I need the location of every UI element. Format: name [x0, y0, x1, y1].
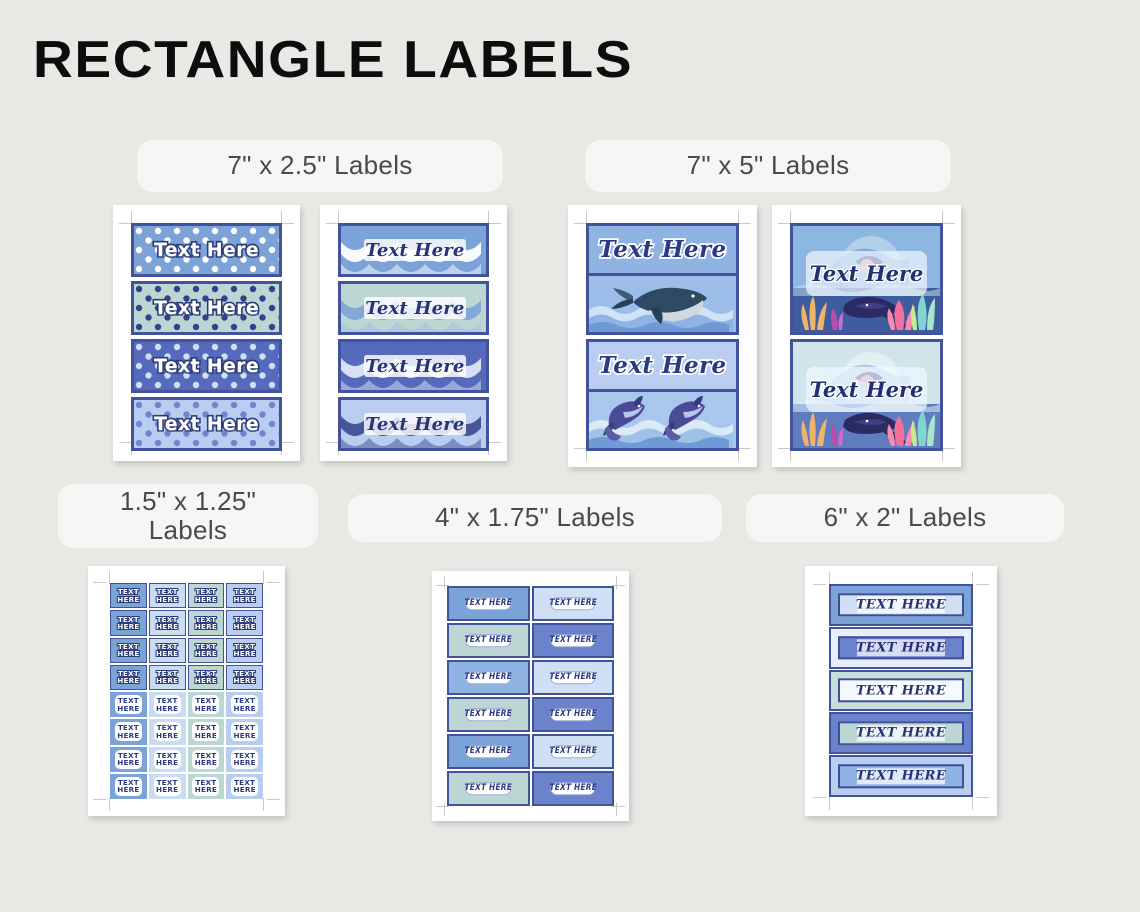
six-by-two-text: TEXT HERE — [856, 640, 946, 655]
label-text: Text Here — [134, 413, 279, 435]
mini-label-card[interactable]: TEXTHERE — [115, 750, 142, 769]
mini-label-text: TEXTHERE — [117, 779, 139, 794]
mini-label-card[interactable]: TEXTHERE — [192, 777, 219, 796]
crop-mark — [267, 582, 280, 583]
crop-mark — [444, 576, 445, 589]
crop-mark — [281, 223, 294, 224]
mini-label-text: TEXTHERE — [195, 697, 217, 712]
mini-label-text: TEXTHERE — [156, 752, 178, 767]
mini-label[interactable]: TEXTHERE — [226, 610, 263, 635]
mini-label[interactable]: TEXTHERE — [188, 638, 225, 663]
pill-label[interactable]: TEXT HERE — [447, 586, 530, 621]
mini-label-text: TEXTHERE — [117, 697, 139, 712]
mini-label[interactable]: TEXTHERE — [110, 692, 147, 717]
pill-label-field[interactable]: TEXT HERE — [550, 782, 596, 796]
six-by-two-label[interactable]: TEXT HERE — [829, 584, 973, 626]
pill-label-text: TEXT HERE — [464, 747, 512, 757]
pill-label-text: TEXT HERE — [464, 599, 512, 609]
pill-label-text: TEXT HERE — [549, 784, 597, 794]
pill-label[interactable]: TEXT HERE — [447, 734, 530, 769]
pill-label-text: TEXT HERE — [464, 710, 512, 720]
mini-label-text: TEXTHERE — [195, 670, 217, 685]
mini-label[interactable]: TEXTHERE — [110, 747, 147, 772]
label-text: Text Here — [134, 355, 279, 377]
mini-label[interactable]: TEXTHERE — [110, 719, 147, 744]
pill-label-field[interactable]: TEXT HERE — [550, 597, 596, 611]
mini-label-text: TEXTHERE — [234, 697, 256, 712]
crop-mark — [942, 223, 955, 224]
crop-mark — [829, 797, 830, 810]
mini-label[interactable]: TEXTHERE — [149, 583, 186, 608]
label-row[interactable]: Text Here — [131, 281, 282, 335]
badge-6x2: 6" x 2" Labels — [746, 494, 1064, 542]
mini-label[interactable]: TEXTHERE — [226, 774, 263, 799]
mini-label-card[interactable]: TEXTHERE — [115, 777, 142, 796]
crop-mark — [976, 584, 989, 585]
sheet-six-by-two[interactable]: TEXT HERETEXT HERETEXT HERETEXT HERETEXT… — [805, 566, 997, 816]
label-row[interactable]: Text Here — [790, 339, 943, 451]
label-text: Text Here — [134, 239, 279, 261]
pill-label[interactable]: TEXT HERE — [532, 586, 615, 621]
crop-mark — [972, 797, 973, 810]
mini-label-card[interactable]: TEXTHERE — [192, 750, 219, 769]
mini-label[interactable]: TEXTHERE — [188, 719, 225, 744]
mini-label-text: TEXTHERE — [234, 643, 256, 658]
mini-label[interactable]: TEXTHERE — [226, 583, 263, 608]
mini-label-text: TEXTHERE — [117, 724, 139, 739]
mini-label[interactable]: TEXTHERE — [226, 665, 263, 690]
label-text: Text Here — [365, 355, 464, 376]
badge-7x5: 7" x 5" Labels — [585, 140, 951, 192]
mini-label-card[interactable]: TEXTHERE — [231, 777, 258, 796]
crop-mark — [813, 797, 826, 798]
mini-label-text: TEXTHERE — [234, 588, 256, 603]
pill-label-grid: TEXT HERETEXT HERETEXT HERETEXT HERETEXT… — [446, 585, 615, 807]
crop-mark — [942, 448, 955, 449]
six-by-two-text: TEXT HERE — [856, 683, 946, 698]
label-row[interactable]: Text Here — [338, 397, 489, 451]
pill-label-text: TEXT HERE — [549, 747, 597, 757]
mini-label[interactable]: TEXTHERE — [149, 774, 186, 799]
mini-label-card[interactable]: TEXTHERE — [192, 722, 219, 741]
mini-label[interactable]: TEXTHERE — [188, 747, 225, 772]
mini-label[interactable]: TEXTHERE — [226, 719, 263, 744]
badge-7x2-5: 7" x 2.5" Labels — [137, 140, 503, 192]
mini-label-card[interactable]: TEXTHERE — [115, 722, 142, 741]
mini-label-text: TEXTHERE — [117, 670, 139, 685]
six-by-two-rows: TEXT HERETEXT HERETEXT HERETEXT HERETEXT… — [829, 584, 973, 798]
mini-label-card[interactable]: TEXTHERE — [154, 695, 181, 714]
mini-label-card[interactable]: TEXTHERE — [115, 695, 142, 714]
dolphins-illustration — [589, 392, 736, 448]
pill-label-field[interactable]: TEXT HERE — [550, 745, 596, 759]
crop-mark — [813, 584, 826, 585]
mini-label[interactable]: TEXTHERE — [110, 610, 147, 635]
mini-label[interactable]: TEXTHERE — [149, 665, 186, 690]
sheet-mini-grid[interactable]: TEXTHERETEXTHERETEXTHERETEXTHERETEXTHERE… — [88, 566, 285, 816]
pill-label[interactable]: TEXT HERE — [532, 623, 615, 658]
mini-label[interactable]: TEXTHERE — [110, 774, 147, 799]
mini-label[interactable]: TEXTHERE — [149, 719, 186, 744]
label-text-banner: Text Here — [364, 413, 466, 435]
six-by-two-text: TEXT HERE — [856, 597, 946, 612]
mini-label-text: TEXTHERE — [234, 779, 256, 794]
label-text: Text Here — [810, 261, 924, 286]
label-row[interactable]: Text Here — [131, 223, 282, 277]
sheet-waves[interactable]: Text Here Text Here Text Here — [320, 205, 507, 461]
pill-label-text: TEXT HERE — [464, 673, 512, 683]
pill-label-field[interactable]: TEXT HERE — [465, 782, 511, 796]
mini-label-text: TEXTHERE — [156, 643, 178, 658]
mini-label-text: TEXTHERE — [195, 779, 217, 794]
mini-label[interactable]: TEXTHERE — [149, 610, 186, 635]
pill-label-field[interactable]: TEXT HERE — [465, 708, 511, 722]
mini-label[interactable]: TEXTHERE — [110, 638, 147, 663]
pill-label-field[interactable]: TEXT HERE — [550, 708, 596, 722]
pill-label-text: TEXT HERE — [549, 599, 597, 609]
mini-label[interactable]: TEXTHERE — [110, 583, 147, 608]
pill-label[interactable]: TEXT HERE — [447, 771, 530, 806]
mini-label-text: TEXTHERE — [156, 779, 178, 794]
mini-label-text: TEXTHERE — [234, 752, 256, 767]
whale-illustration — [589, 276, 736, 332]
crop-mark — [488, 442, 501, 443]
pill-label[interactable]: TEXT HERE — [532, 697, 615, 732]
label-row[interactable]: Text Here — [586, 339, 739, 451]
crop-mark — [738, 448, 751, 449]
label-text-banner: Text Here — [364, 355, 466, 377]
crop-mark — [488, 223, 501, 224]
crop-mark — [93, 799, 106, 800]
mini-label-text: TEXTHERE — [117, 752, 139, 767]
six-by-two-frame: TEXT HERE — [838, 593, 964, 616]
pill-label[interactable]: TEXT HERE — [447, 697, 530, 732]
mini-label[interactable]: TEXTHERE — [226, 638, 263, 663]
crop-mark — [616, 803, 617, 816]
label-row[interactable]: Text Here — [586, 223, 739, 335]
label-text-banner: Text Here — [806, 251, 927, 296]
sheet-reef[interactable]: Text Here — [772, 205, 961, 467]
mini-label-text: TEXTHERE — [195, 643, 217, 658]
pill-label-field[interactable]: TEXT HERE — [465, 671, 511, 685]
crop-mark — [738, 223, 751, 224]
badge-1-5x1-25: 1.5" x 1.25" Labels — [58, 484, 318, 548]
mini-label-grid: TEXTHERETEXTHERETEXTHERETEXTHERETEXTHERE… — [109, 582, 264, 800]
label-row[interactable]: Text Here — [338, 339, 489, 393]
six-by-two-frame: TEXT HERE — [838, 722, 964, 745]
pill-label-field[interactable]: TEXT HERE — [465, 745, 511, 759]
label-row[interactable]: Text Here — [338, 223, 489, 277]
pill-label[interactable]: TEXT HERE — [447, 660, 530, 695]
mini-label-text: TEXTHERE — [117, 588, 139, 603]
mini-label[interactable]: TEXTHERE — [188, 583, 225, 608]
crop-mark — [281, 442, 294, 443]
six-by-two-label[interactable]: TEXT HERE — [829, 712, 973, 754]
mini-label[interactable]: TEXTHERE — [110, 665, 147, 690]
crop-mark — [616, 576, 617, 589]
pill-label-text: TEXT HERE — [549, 636, 597, 646]
mini-label[interactable]: TEXTHERE — [188, 692, 225, 717]
label-text: Text Here — [365, 413, 464, 434]
six-by-two-text: TEXT HERE — [856, 726, 946, 741]
crop-mark — [444, 803, 445, 816]
label-text: Text Here — [589, 226, 736, 273]
mini-label-text: TEXTHERE — [195, 724, 217, 739]
page-title: RECTANGLE LABELS — [33, 30, 633, 90]
label-text: Text Here — [589, 342, 736, 389]
mini-label-card[interactable]: TEXTHERE — [154, 750, 181, 769]
mini-label-text: TEXTHERE — [156, 724, 178, 739]
mini-label-text: TEXTHERE — [117, 643, 139, 658]
sheet-whale-dolphin[interactable]: Text Here — [568, 205, 757, 467]
six-by-two-label[interactable]: TEXT HERE — [829, 627, 973, 669]
pill-label[interactable]: TEXT HERE — [447, 623, 530, 658]
mini-label-text: TEXTHERE — [156, 588, 178, 603]
label-text-banner: Text Here — [364, 239, 466, 261]
mini-label[interactable]: TEXTHERE — [149, 692, 186, 717]
pill-label-field[interactable]: TEXT HERE — [465, 597, 511, 611]
pill-label-field[interactable]: TEXT HERE — [550, 671, 596, 685]
pill-label-text: TEXT HERE — [464, 784, 512, 794]
label-text-banner: Text Here — [364, 297, 466, 319]
badge-1-5x1-25-line1: 1.5" x 1.25" — [120, 487, 256, 516]
label-row[interactable]: Text Here — [131, 397, 282, 451]
pill-label-text: TEXT HERE — [464, 636, 512, 646]
mini-label-card[interactable]: TEXTHERE — [154, 777, 181, 796]
mini-label-card[interactable]: TEXTHERE — [231, 750, 258, 769]
label-catalog-page: RECTANGLE LABELS 7" x 2.5" Labels 7" x 5… — [0, 0, 1140, 912]
crop-mark — [976, 797, 989, 798]
mini-label-text: TEXTHERE — [234, 670, 256, 685]
six-by-two-label[interactable]: TEXT HERE — [829, 755, 973, 797]
pill-label[interactable]: TEXT HERE — [532, 734, 615, 769]
crop-mark — [93, 582, 106, 583]
mini-label-card[interactable]: TEXTHERE — [192, 695, 219, 714]
six-by-two-text: TEXT HERE — [856, 769, 946, 784]
mini-label-text: TEXTHERE — [156, 616, 178, 631]
sheet-polka-dots[interactable]: Text Here Text Here Text Here — [113, 205, 300, 461]
six-by-two-frame: TEXT HERE — [838, 679, 964, 702]
mini-label[interactable]: TEXTHERE — [188, 665, 225, 690]
mini-label-card[interactable]: TEXTHERE — [231, 695, 258, 714]
mini-label[interactable]: TEXTHERE — [149, 747, 186, 772]
pill-label-field[interactable]: TEXT HERE — [465, 634, 511, 648]
pill-label-text: TEXT HERE — [549, 710, 597, 720]
label-text: Text Here — [365, 297, 464, 318]
mini-label[interactable]: TEXTHERE — [188, 774, 225, 799]
label-text: Text Here — [134, 297, 279, 319]
badge-4x1-75: 4" x 1.75" Labels — [348, 494, 722, 542]
six-by-two-frame: TEXT HERE — [838, 636, 964, 659]
label-text-banner: Text Here — [806, 367, 927, 412]
mini-label-text: TEXTHERE — [195, 588, 217, 603]
pill-label-field[interactable]: TEXT HERE — [550, 634, 596, 648]
mini-label-text: TEXTHERE — [234, 724, 256, 739]
mini-label[interactable]: TEXTHERE — [188, 610, 225, 635]
pill-label[interactable]: TEXT HERE — [532, 660, 615, 695]
mini-label-card[interactable]: TEXTHERE — [231, 722, 258, 741]
mini-label-text: TEXTHERE — [156, 670, 178, 685]
mini-label[interactable]: TEXTHERE — [226, 692, 263, 717]
six-by-two-label[interactable]: TEXT HERE — [829, 670, 973, 712]
sheet-pill-grid[interactable]: TEXT HERETEXT HERETEXT HERETEXT HERETEXT… — [432, 571, 629, 821]
badge-1-5x1-25-line2: Labels — [149, 516, 227, 545]
mini-label[interactable]: TEXTHERE — [226, 747, 263, 772]
mini-label-text: TEXTHERE — [117, 616, 139, 631]
label-row[interactable]: Text Here — [131, 339, 282, 393]
mini-label-text: TEXTHERE — [195, 616, 217, 631]
pill-label[interactable]: TEXT HERE — [532, 771, 615, 806]
label-row[interactable]: Text Here — [790, 223, 943, 335]
label-text: Text Here — [365, 239, 464, 260]
six-by-two-frame: TEXT HERE — [838, 764, 964, 787]
mini-label-text: TEXTHERE — [195, 752, 217, 767]
pill-label-text: TEXT HERE — [549, 673, 597, 683]
mini-label-card[interactable]: TEXTHERE — [154, 722, 181, 741]
mini-label-text: TEXTHERE — [156, 697, 178, 712]
label-text: Text Here — [810, 377, 924, 402]
mini-label[interactable]: TEXTHERE — [149, 638, 186, 663]
mini-label-text: TEXTHERE — [234, 616, 256, 631]
label-row[interactable]: Text Here — [338, 281, 489, 335]
crop-mark — [267, 799, 280, 800]
